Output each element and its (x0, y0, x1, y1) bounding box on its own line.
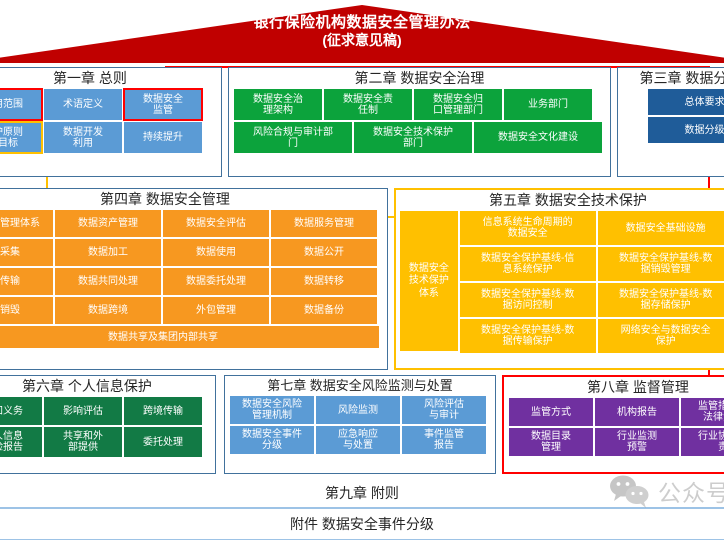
ch4-item-1-label: 数据资产管理 (78, 218, 138, 229)
chapter-4-panel: 第四章 数据安全管理 数据安全管理体系 数据资产管理 数据安全评估 数据服务管理… (0, 188, 388, 370)
chapter-5-items: 信息系统生命周期的数据安全 数据安全基础设施 数据安全保护基线-信息系统保护 数… (459, 210, 724, 354)
ch1-item-1-label: 术语定义 (63, 99, 103, 110)
ch6-item-2[interactable]: 跨境传输 (124, 397, 202, 425)
ch2-item-4-label: 风险合规与审计部门 (253, 127, 333, 149)
ch6-item-2-label: 跨境传输 (143, 406, 183, 417)
ch5-item-7[interactable]: 网络安全与数据安全保护 (598, 319, 724, 353)
chapter-2-panel: 第二章 数据安全治理 数据安全治理架构 数据安全责任制 数据安全归口管理部门 业… (228, 67, 611, 177)
ch8-item-4-label: 行业监测预警 (617, 431, 657, 453)
ch2-item-2[interactable]: 数据安全归口管理部门 (414, 89, 502, 120)
chapter-7-title: 第七章 数据安全风险监测与处置 (225, 376, 495, 395)
ch7-item-1[interactable]: 风险监测 (316, 396, 400, 424)
chapter-2-title: 第二章 数据安全治理 (229, 68, 610, 88)
ch4-item-7-label: 数据公开 (304, 247, 344, 258)
ch4-footer-label: 数据共享及集团内部共享 (108, 332, 218, 343)
ch4-item-8[interactable]: 数据传输 (0, 268, 53, 295)
chapter-7-items: 数据安全风险管理机制 风险监测 风险评估与审计 数据安全事件分级 应急响应与处置… (225, 395, 495, 455)
ch3-item-1[interactable]: 数据分级 (648, 117, 724, 143)
ch1-item-0[interactable]: 适用范围 (0, 89, 42, 120)
ch4-item-4-label: 数据采集 (0, 247, 20, 258)
ch4-item-4[interactable]: 数据采集 (0, 239, 53, 266)
chapter-6-items: 告知义务 影响评估 跨境传输 个人信息风险报告 共享和外部提供 委托处理 (0, 396, 215, 458)
banner-title-line1: 银行保险机构数据安全管理办法 (0, 14, 724, 32)
ch4-footer[interactable]: 数据共享及集团内部共享 (0, 326, 379, 348)
chapter-3-items: 总体要求 数据分级 (618, 88, 724, 144)
ch4-item-14[interactable]: 外包管理 (163, 297, 269, 324)
chapter-1-panel: 第一章 总则 适用范围 术语定义 数据安全监管 保护原则和目标 数据开发利用 持… (0, 67, 222, 177)
ch2-item-1-label: 数据安全责任制 (343, 94, 393, 116)
banner-baseline (0, 61, 724, 63)
ch4-item-3-label: 数据服务管理 (294, 218, 354, 229)
ch1-item-3-label: 保护原则和目标 (0, 127, 23, 149)
ch6-item-3-label: 个人信息风险报告 (0, 431, 23, 453)
appendix-title: 附件 数据安全事件分级 (290, 514, 434, 534)
ch4-item-6-label: 数据使用 (196, 247, 236, 258)
chapter-9-title: 第九章 附则 (325, 483, 399, 503)
ch2-item-3-label: 业务部门 (528, 99, 568, 110)
ch4-item-12-label: 数据销毁 (0, 305, 20, 316)
ch6-item-5[interactable]: 委托处理 (124, 427, 202, 457)
ch5-item-0[interactable]: 信息系统生命周期的数据安全 (460, 211, 596, 245)
chapter-4-items: 数据安全管理体系 数据资产管理 数据安全评估 数据服务管理 数据采集 数据加工 … (0, 209, 387, 349)
ch7-item-0-label: 数据安全风险管理机制 (242, 399, 302, 421)
ch3-item-0-label: 总体要求 (685, 97, 724, 108)
ch6-item-3[interactable]: 个人信息风险报告 (0, 427, 42, 457)
ch4-item-2[interactable]: 数据安全评估 (163, 210, 269, 237)
ch2-item-4[interactable]: 风险合规与审计部门 (234, 122, 352, 153)
ch1-item-2[interactable]: 数据安全监管 (124, 89, 202, 120)
ch7-item-5-label: 事件监管报告 (424, 429, 464, 451)
chapter-6-title: 第六章 个人信息保护 (0, 376, 215, 396)
ch4-item-2-label: 数据安全评估 (186, 218, 246, 229)
chapter-5-panel: 第五章 数据安全技术保护 数据安全技术保护体系 信息系统生命周期的数据安全 数据… (394, 188, 724, 370)
ch4-item-9-label: 数据共同处理 (78, 276, 138, 287)
ch8-item-5[interactable]: 行业协会职责 (681, 428, 724, 456)
ch5-item-7-label: 网络安全与数据安全保护 (621, 325, 711, 347)
ch5-item-5-label: 数据安全保护基线-数据存储保护 (619, 289, 712, 311)
ch5-item-3[interactable]: 数据安全保护基线-数据销毁管理 (598, 247, 724, 281)
ch1-item-0-label: 适用范围 (0, 99, 23, 110)
ch8-item-2[interactable]: 监管措施与法律责任 (681, 398, 724, 426)
ch5-item-6[interactable]: 数据安全保护基线-数据传输保护 (460, 319, 596, 353)
ch7-item-2-label: 风险评估与审计 (424, 399, 464, 421)
chapter-2-items: 数据安全治理架构 数据安全责任制 数据安全归口管理部门 业务部门 风险合规与审计… (229, 88, 610, 154)
ch1-item-3[interactable]: 保护原则和目标 (0, 122, 42, 153)
appendix-bar: 附件 数据安全事件分级 (0, 508, 724, 540)
ch5-side-label-text: 数据安全技术保护体系 (409, 263, 449, 301)
ch5-item-3-label: 数据安全保护基线-数据销毁管理 (619, 253, 712, 275)
ch2-item-3[interactable]: 业务部门 (504, 89, 592, 120)
ch4-item-3[interactable]: 数据服务管理 (271, 210, 377, 237)
ch5-item-2[interactable]: 数据安全保护基线-信息系统保护 (460, 247, 596, 281)
ch2-item-6-label: 数据安全文化建设 (498, 132, 578, 143)
ch1-item-4[interactable]: 数据开发利用 (44, 122, 122, 153)
ch6-item-0[interactable]: 告知义务 (0, 397, 42, 425)
ch5-item-6-label: 数据安全保护基线-数据传输保护 (481, 325, 574, 347)
chapter-6-panel: 第六章 个人信息保护 告知义务 影响评估 跨境传输 个人信息风险报告 共享和外部… (0, 375, 216, 474)
ch6-item-4[interactable]: 共享和外部提供 (44, 427, 122, 457)
ch8-item-1[interactable]: 机构报告 (595, 398, 679, 426)
ch1-item-2-label: 数据安全监管 (143, 94, 183, 116)
ch4-item-11-label: 数据转移 (304, 276, 344, 287)
ch4-item-5-label: 数据加工 (88, 247, 128, 258)
chapter-8-title: 第八章 监督管理 (504, 377, 724, 397)
chapter-1-items: 适用范围 术语定义 数据安全监管 保护原则和目标 数据开发利用 持续提升 (0, 88, 221, 154)
ch6-item-5-label: 委托处理 (143, 437, 183, 448)
chapter-5-body: 数据安全技术保护体系 信息系统生命周期的数据安全 数据安全基础设施 数据安全保护… (396, 210, 724, 354)
ch7-item-0[interactable]: 数据安全风险管理机制 (230, 396, 314, 424)
ch7-item-2[interactable]: 风险评估与审计 (402, 396, 486, 424)
ch7-item-3[interactable]: 数据安全事件分级 (230, 426, 314, 454)
ch3-item-1-label: 数据分级 (685, 125, 724, 136)
ch5-side-label[interactable]: 数据安全技术保护体系 (400, 211, 458, 351)
ch6-item-4-label: 共享和外部提供 (63, 431, 103, 453)
ch2-item-6[interactable]: 数据安全文化建设 (474, 122, 602, 153)
ch6-item-1[interactable]: 影响评估 (44, 397, 122, 425)
ch1-item-5[interactable]: 持续提升 (124, 122, 202, 153)
ch2-item-2-label: 数据安全归口管理部门 (433, 94, 483, 116)
diagram-canvas: 银行保险机构数据安全管理办法 (征求意见稿) 第一章 总则 适用范围 术语定义 … (0, 0, 724, 544)
ch6-item-1-label: 影响评估 (63, 406, 103, 417)
ch8-item-1-label: 机构报告 (617, 407, 657, 418)
ch2-item-5-label: 数据安全技术保护部门 (373, 127, 453, 149)
ch4-item-10-label: 数据委托处理 (186, 276, 246, 287)
ch4-item-12[interactable]: 数据销毁 (0, 297, 53, 324)
ch4-item-15-label: 数据备份 (304, 305, 344, 316)
ch5-item-1[interactable]: 数据安全基础设施 (598, 211, 724, 245)
ch7-item-5[interactable]: 事件监管报告 (402, 426, 486, 454)
ch4-item-11[interactable]: 数据转移 (271, 268, 377, 295)
ch4-item-13-label: 数据跨境 (88, 305, 128, 316)
ch5-item-4-label: 数据安全保护基线-数据访问控制 (481, 289, 574, 311)
ch7-item-3-label: 数据安全事件分级 (242, 429, 302, 451)
ch2-item-5[interactable]: 数据安全技术保护部门 (354, 122, 472, 153)
ch7-item-1-label: 风险监测 (338, 405, 378, 416)
ch2-item-0-label: 数据安全治理架构 (253, 94, 303, 116)
ch8-item-5-label: 行业协会职责 (698, 431, 724, 453)
ch2-item-0[interactable]: 数据安全治理架构 (234, 89, 322, 120)
ch8-item-0[interactable]: 监管方式 (509, 398, 593, 426)
ch5-item-0-label: 信息系统生命周期的数据安全 (483, 217, 573, 239)
ch4-item-6[interactable]: 数据使用 (163, 239, 269, 266)
chapter-8-items: 监管方式 机构报告 监管措施与法律责任 数据目录管理 行业监测预警 行业协会职责 (504, 397, 724, 457)
ch4-item-9[interactable]: 数据共同处理 (55, 268, 161, 295)
ch8-item-3-label: 数据目录管理 (531, 431, 571, 453)
ch4-item-0[interactable]: 数据安全管理体系 (0, 210, 53, 237)
ch4-item-8-label: 数据传输 (0, 276, 20, 287)
ch5-item-1-label: 数据安全基础设施 (626, 223, 706, 234)
chapter-4-title: 第四章 数据安全管理 (0, 189, 387, 209)
ch4-item-13[interactable]: 数据跨境 (55, 297, 161, 324)
ch4-item-1[interactable]: 数据资产管理 (55, 210, 161, 237)
ch3-item-0[interactable]: 总体要求 (648, 89, 724, 115)
ch4-item-5[interactable]: 数据加工 (55, 239, 161, 266)
ch4-item-7[interactable]: 数据公开 (271, 239, 377, 266)
chapter-8-panel: 第八章 监督管理 监管方式 机构报告 监管措施与法律责任 数据目录管理 行业监测… (502, 375, 724, 474)
ch1-item-1[interactable]: 术语定义 (44, 89, 122, 120)
ch5-item-5[interactable]: 数据安全保护基线-数据存储保护 (598, 283, 724, 317)
ch2-item-1[interactable]: 数据安全责任制 (324, 89, 412, 120)
ch5-item-4[interactable]: 数据安全保护基线-数据访问控制 (460, 283, 596, 317)
ch1-item-5-label: 持续提升 (143, 132, 183, 143)
ch7-item-4[interactable]: 应急响应与处置 (316, 426, 400, 454)
ch4-item-10[interactable]: 数据委托处理 (163, 268, 269, 295)
chapter-1-title: 第一章 总则 (0, 68, 221, 88)
ch8-item-4[interactable]: 行业监测预警 (595, 428, 679, 456)
ch8-item-0-label: 监管方式 (531, 407, 571, 418)
ch7-item-4-label: 应急响应与处置 (338, 429, 378, 451)
ch1-item-4-label: 数据开发利用 (63, 127, 103, 149)
ch5-item-2-label: 数据安全保护基线-信息系统保护 (481, 253, 574, 275)
ch4-item-15[interactable]: 数据备份 (271, 297, 377, 324)
banner-title: 银行保险机构数据安全管理办法 (征求意见稿) (0, 14, 724, 49)
ch4-item-14-label: 外包管理 (196, 305, 236, 316)
ch8-item-2-label: 监管措施与法律责任 (698, 401, 724, 423)
ch6-item-0-label: 告知义务 (0, 406, 23, 417)
chapter-5-title: 第五章 数据安全技术保护 (396, 190, 724, 210)
chapter-3-panel: 第三章 数据分类分级 总体要求 数据分级 (617, 67, 724, 177)
chapter-3-title: 第三章 数据分类分级 (618, 68, 724, 88)
ch4-item-0-label: 数据安全管理体系 (0, 218, 40, 229)
banner-title-line2: (征求意见稿) (0, 32, 724, 49)
chapter-9-bar: 第九章 附则 (0, 478, 724, 508)
chapter-7-panel: 第七章 数据安全风险监测与处置 数据安全风险管理机制 风险监测 风险评估与审计 … (224, 375, 496, 474)
ch8-item-3[interactable]: 数据目录管理 (509, 428, 593, 456)
